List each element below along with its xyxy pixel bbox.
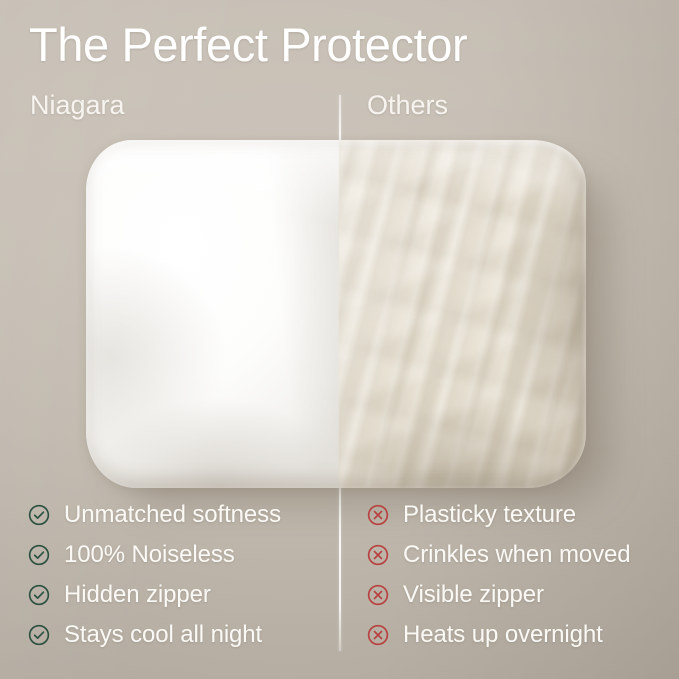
x-circle-icon <box>367 504 389 526</box>
list-item: Crinkles when moved <box>367 535 667 575</box>
list-item-label: Stays cool all night <box>64 623 262 647</box>
check-circle-icon <box>28 584 50 606</box>
x-circle-icon <box>367 584 389 606</box>
product-comparison-graphic: The Perfect Protector Niagara Others Unm… <box>0 0 679 679</box>
pillow-body <box>86 140 586 488</box>
check-circle-icon <box>28 624 50 646</box>
list-item: Stays cool all night <box>28 615 328 655</box>
list-item-label: Plasticky texture <box>403 503 576 527</box>
pillow-beige-shading <box>339 140 586 488</box>
feature-list-niagara: Unmatched softness 100% Noiseless Hidden… <box>28 495 328 655</box>
feature-list-others: Plasticky texture Crinkles when moved Vi… <box>367 495 667 655</box>
pillow-half-others-beige <box>339 140 586 488</box>
list-item-label: 100% Noiseless <box>64 543 235 567</box>
list-item: Heats up overnight <box>367 615 667 655</box>
check-circle-icon <box>28 504 50 526</box>
list-item-label: Visible zipper <box>403 583 544 607</box>
list-item: Unmatched softness <box>28 495 328 535</box>
list-item-label: Hidden zipper <box>64 583 211 607</box>
list-item: Hidden zipper <box>28 575 328 615</box>
x-circle-icon <box>367 544 389 566</box>
pillow-white-shading <box>86 140 339 488</box>
list-item-label: Crinkles when moved <box>403 543 631 567</box>
column-label-others: Others <box>367 92 448 119</box>
check-circle-icon <box>28 544 50 566</box>
list-item: Visible zipper <box>367 575 667 615</box>
column-label-niagara: Niagara <box>30 92 125 119</box>
x-circle-icon <box>367 624 389 646</box>
pillow-image <box>86 140 586 488</box>
list-item: Plasticky texture <box>367 495 667 535</box>
list-item: 100% Noiseless <box>28 535 328 575</box>
pillow-half-niagara-white <box>86 140 339 488</box>
list-item-label: Heats up overnight <box>403 623 603 647</box>
list-item-label: Unmatched softness <box>64 503 281 527</box>
page-title: The Perfect Protector <box>29 21 467 68</box>
